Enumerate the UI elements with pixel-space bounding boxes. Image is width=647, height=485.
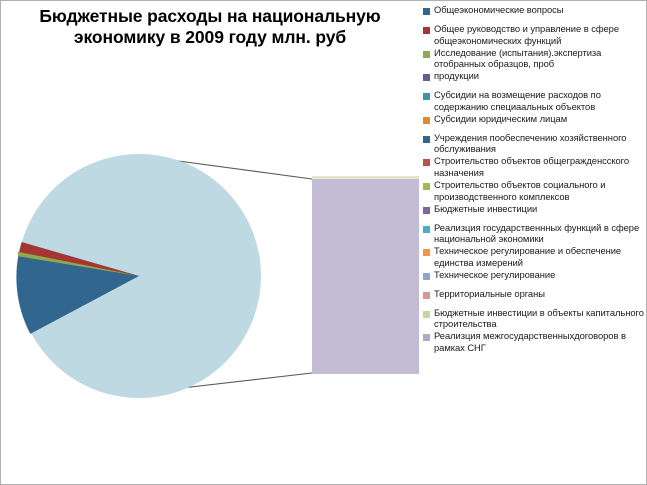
legend-item-label: Техническое регулирование xyxy=(434,269,555,281)
legend-item-label: Учреждения пообеспечению хозяйственного … xyxy=(434,132,646,156)
legend-swatch-icon xyxy=(423,226,430,233)
legend-swatch-icon xyxy=(423,51,430,58)
legend-group: Общее руководство и управление в сфере о… xyxy=(423,23,646,82)
legend-item-label: Техническое регулирование и обеспечение … xyxy=(434,245,646,269)
pie-slices xyxy=(16,154,261,398)
legend-item[interactable]: Исследование (испытания).экспертиза отоб… xyxy=(423,47,646,71)
legend-swatch-icon xyxy=(423,207,430,214)
legend-item-label: Субсидии юридическим лицам xyxy=(434,113,567,125)
legend-item[interactable]: Учреждения пообеспечению хозяйственного … xyxy=(423,132,646,156)
legend-group: Субсидии на возмещение расходов по содер… xyxy=(423,89,646,125)
legend-item[interactable]: Техническое регулирование xyxy=(423,269,646,281)
legend-item[interactable]: Субсидии на возмещение расходов по содер… xyxy=(423,89,646,113)
bar-of-pie-graphic xyxy=(1,61,419,485)
legend-item-label: Территориальные органы xyxy=(434,288,545,300)
legend-group: Реализция государственнных функций в сфе… xyxy=(423,222,646,281)
legend-item-label: Бюджетные инвестиции xyxy=(434,203,537,215)
legend-swatch-icon xyxy=(423,27,430,34)
bar-segment-byudzhetnye-investitsii-kapstroitelstvo[interactable] xyxy=(312,176,419,179)
legend-item[interactable]: продукции xyxy=(423,70,646,82)
legend-item-label: Строительство объектов социального и про… xyxy=(434,179,646,203)
bar-segment-realizatsiya-mezhgosudarstvennyh-dogovorov[interactable] xyxy=(312,179,419,374)
legend-item[interactable]: Субсидии юридическим лицам xyxy=(423,113,646,125)
plot-area xyxy=(1,61,419,485)
legend-item-label: Субсидии на возмещение расходов по содер… xyxy=(434,89,646,113)
legend-item[interactable]: Техническое регулирование и обеспечение … xyxy=(423,245,646,269)
legend-swatch-icon xyxy=(423,311,430,318)
legend-swatch-icon xyxy=(423,249,430,256)
legend-item-label: Строительство объектов общегражденсского… xyxy=(434,155,646,179)
legend-swatch-icon xyxy=(423,273,430,280)
legend-swatch-icon xyxy=(423,8,430,15)
legend-item[interactable]: Бюджетные инвестиции xyxy=(423,203,646,215)
legend-group: Территориальные органы xyxy=(423,288,646,300)
legend-item[interactable]: Бюджетные инвестиции в объекты капитальн… xyxy=(423,307,646,331)
legend-item[interactable]: Реализция межгосударственныхдоговоров в … xyxy=(423,330,646,354)
legend-item-label: Реализция государственнных функций в сфе… xyxy=(434,222,646,246)
legend-item-label: Исследование (испытания).экспертиза отоб… xyxy=(434,47,646,71)
legend-swatch-icon xyxy=(423,292,430,299)
legend-swatch-icon xyxy=(423,183,430,190)
legend-item-label: продукции xyxy=(434,70,479,82)
chart-canvas: Бюджетные расходы на национальную эконом… xyxy=(0,0,647,485)
legend-item-label: Реализция межгосударственныхдоговоров в … xyxy=(434,330,646,354)
secondary-bar xyxy=(312,176,419,374)
legend-item-label: Общеэкономические вопросы xyxy=(434,4,563,16)
legend-item[interactable]: Строительство объектов социального и про… xyxy=(423,179,646,203)
legend-swatch-icon xyxy=(423,334,430,341)
legend-swatch-icon xyxy=(423,74,430,81)
legend-swatch-icon xyxy=(423,159,430,166)
legend-group: Общеэкономические вопросы xyxy=(423,4,646,16)
legend-swatch-icon xyxy=(423,136,430,143)
legend-swatch-icon xyxy=(423,117,430,124)
legend-item-label: Общее руководство и управление в сфере о… xyxy=(434,23,646,47)
legend-item-label: Бюджетные инвестиции в объекты капитальн… xyxy=(434,307,646,331)
chart-legend: Общеэкономические вопросыОбщее руководст… xyxy=(421,1,647,484)
legend-swatch-icon xyxy=(423,93,430,100)
legend-item[interactable]: Общее руководство и управление в сфере о… xyxy=(423,23,646,47)
legend-item[interactable]: Общеэкономические вопросы xyxy=(423,4,646,16)
legend-group: Бюджетные инвестиции в объекты капитальн… xyxy=(423,307,646,354)
legend-group: Учреждения пообеспечению хозяйственного … xyxy=(423,132,646,215)
legend-item[interactable]: Строительство объектов общегражденсского… xyxy=(423,155,646,179)
chart-title: Бюджетные расходы на национальную эконом… xyxy=(5,6,415,49)
legend-item[interactable]: Территориальные органы xyxy=(423,288,646,300)
legend-item[interactable]: Реализция государственнных функций в сфе… xyxy=(423,222,646,246)
